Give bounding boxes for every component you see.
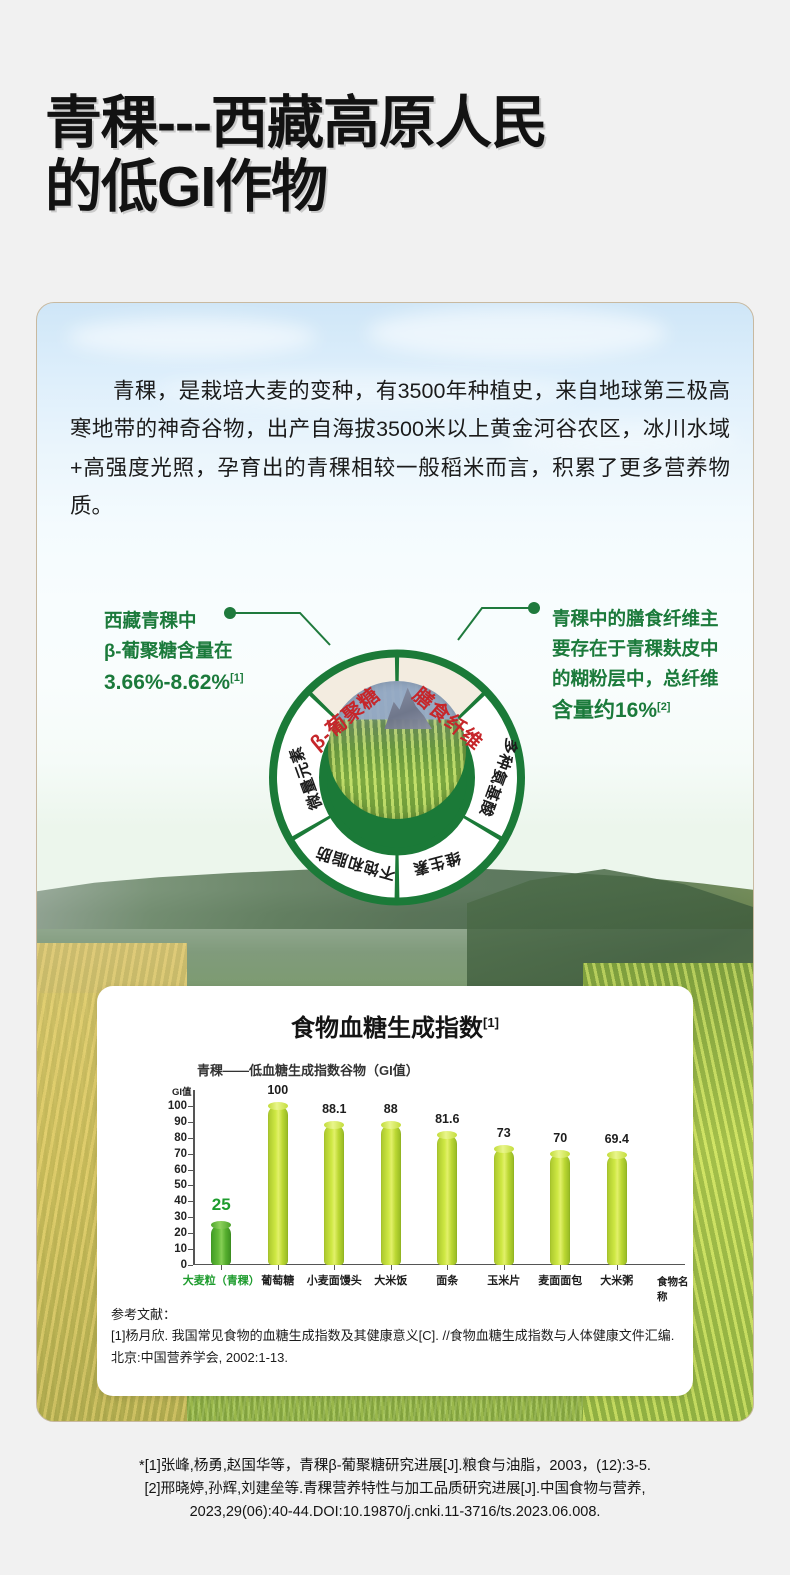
- x-tick-mark: [334, 1265, 335, 1270]
- bar-value-label: 69.4: [605, 1132, 629, 1146]
- y-tick-label: 50: [174, 1179, 187, 1191]
- bar-slot: 100葡萄糖: [251, 1090, 305, 1265]
- bar-slot: 70麦面面包: [533, 1090, 587, 1265]
- bar-value-label: 25: [212, 1195, 231, 1215]
- gi-chart-panel: 食物血糖生成指数[1] 青稞——低血糖生成指数谷物（GI值） GI值 01020…: [97, 986, 693, 1396]
- cloud-decoration: [367, 307, 667, 359]
- y-tick-label: 10: [174, 1243, 187, 1255]
- cloud-decoration: [67, 317, 317, 357]
- annotation-right-line1: 青稞中的膳食纤维主: [552, 604, 752, 634]
- y-tick-label: 100: [168, 1100, 187, 1112]
- x-tick-mark: [391, 1265, 392, 1270]
- nutrient-donut-chart: β-葡聚糖 膳食纤维 多种氨基酸 维生素 不饱和脂肪 微量元素: [262, 615, 532, 940]
- chart-references: 参考文献： [1]杨月欣. 我国常见食物的血糖生成指数及其健康意义[C]. //…: [111, 1304, 677, 1368]
- x-tick-label: 大米饭: [374, 1272, 407, 1288]
- bar-7[interactable]: [550, 1154, 570, 1265]
- y-axis-title: GI值: [172, 1084, 192, 1098]
- bar-slot: 25大麦粒（青稞）: [194, 1090, 248, 1265]
- x-tick-mark: [617, 1265, 618, 1270]
- bar-slot: 88.1小麦面馒头: [307, 1090, 361, 1265]
- y-tick-label: 20: [174, 1227, 187, 1239]
- bar-slot: 73玉米片: [477, 1090, 531, 1265]
- bar-1[interactable]: [211, 1225, 231, 1265]
- annotation-right-ref: [2]: [657, 701, 670, 713]
- bar-slot: 81.6面条: [420, 1090, 474, 1265]
- bar-value-label: 73: [497, 1126, 511, 1140]
- bar-3[interactable]: [324, 1125, 344, 1265]
- bar-value-label: 81.6: [435, 1112, 459, 1126]
- bar-group: 25大麦粒（青稞）100葡萄糖88.1小麦面馒头88大米饭81.6面条73玉米片…: [193, 1090, 645, 1265]
- reference-item-1: [1]杨月欣. 我国常见食物的血糖生成指数及其健康意义[C]. //食物血糖生成…: [111, 1328, 674, 1364]
- x-tick-mark: [278, 1265, 279, 1270]
- x-tick-mark: [447, 1265, 448, 1270]
- annotation-right-line2: 要存在于青稞麸皮中: [552, 634, 752, 664]
- x-axis-title: 食物名称: [657, 1274, 693, 1304]
- x-tick-label: 面条: [436, 1272, 458, 1288]
- bar-5[interactable]: [437, 1135, 457, 1265]
- y-tick-label: 90: [174, 1116, 187, 1128]
- bar-value-label: 88: [384, 1102, 398, 1116]
- bar-4[interactable]: [381, 1125, 401, 1265]
- x-tick-mark: [504, 1265, 505, 1270]
- bar-value-label: 100: [267, 1083, 288, 1097]
- x-tick-label: 大麦粒（青稞）: [183, 1272, 260, 1288]
- x-tick-mark: [221, 1265, 222, 1270]
- chart-title: 食物血糖生成指数[1]: [97, 1008, 693, 1043]
- x-tick-label: 葡萄糖: [261, 1272, 294, 1288]
- bar-slot: 88大米饭: [364, 1090, 418, 1265]
- bar-value-label: 70: [553, 1131, 567, 1145]
- annotation-dietary-fiber: 青稞中的膳食纤维主 要存在于青稞麸皮中 的糊粉层中，总纤维 含量约16%[2]: [552, 604, 752, 728]
- annotation-right-line3: 的糊粉层中，总纤维: [552, 664, 752, 694]
- y-tick-label: 30: [174, 1211, 187, 1223]
- x-tick-label: 麦面面包: [538, 1272, 582, 1288]
- y-tick-label: 70: [174, 1148, 187, 1160]
- bar-6[interactable]: [494, 1149, 514, 1265]
- bar-slot: 69.4大米粥: [590, 1090, 644, 1265]
- footnotes: *[1]张峰,杨勇,赵国华等，青稞β-葡聚糖研究进展[J].粮食与油脂，2003…: [0, 1455, 790, 1524]
- bar-8[interactable]: [607, 1155, 627, 1265]
- x-tick-label: 玉米片: [487, 1272, 520, 1288]
- y-tick-label: 60: [174, 1164, 187, 1176]
- page-title: 青稞---西藏高原人民 的低GI作物: [45, 92, 745, 220]
- annotation-left-ref: [1]: [230, 672, 243, 684]
- references-label: 参考文献：: [111, 1304, 677, 1325]
- donut-center-photo: [328, 681, 466, 819]
- chart-subtitle: 青稞——低血糖生成指数谷物（GI值）: [197, 1060, 419, 1079]
- infographic-page: 青稞---西藏高原人民 的低GI作物 青稞，是栽培大麦的变种，有3500年种植史…: [0, 0, 790, 1575]
- chart-title-ref: [1]: [483, 1015, 499, 1030]
- bar-2[interactable]: [268, 1106, 288, 1265]
- x-tick-label: 大米粥: [600, 1272, 633, 1288]
- annotation-right-line4: 含量约16%[2]: [552, 694, 752, 728]
- y-tick-label: 40: [174, 1195, 187, 1207]
- x-tick-mark: [560, 1265, 561, 1270]
- chart-plot-area: 0102030405060708090100 25大麦粒（青稞）100葡萄糖88…: [193, 1090, 645, 1265]
- x-tick-label: 小麦面馒头: [307, 1272, 362, 1288]
- bar-value-label: 88.1: [322, 1102, 346, 1116]
- y-tick-label: 80: [174, 1132, 187, 1144]
- intro-paragraph: 青稞，是栽培大麦的变种，有3500年种植史，来自地球第三极高寒地带的神奇谷物，出…: [70, 372, 730, 525]
- y-tick-label: 0: [181, 1259, 187, 1271]
- y-tick-mark: [188, 1265, 193, 1266]
- mountain-peak-icon: [374, 685, 432, 729]
